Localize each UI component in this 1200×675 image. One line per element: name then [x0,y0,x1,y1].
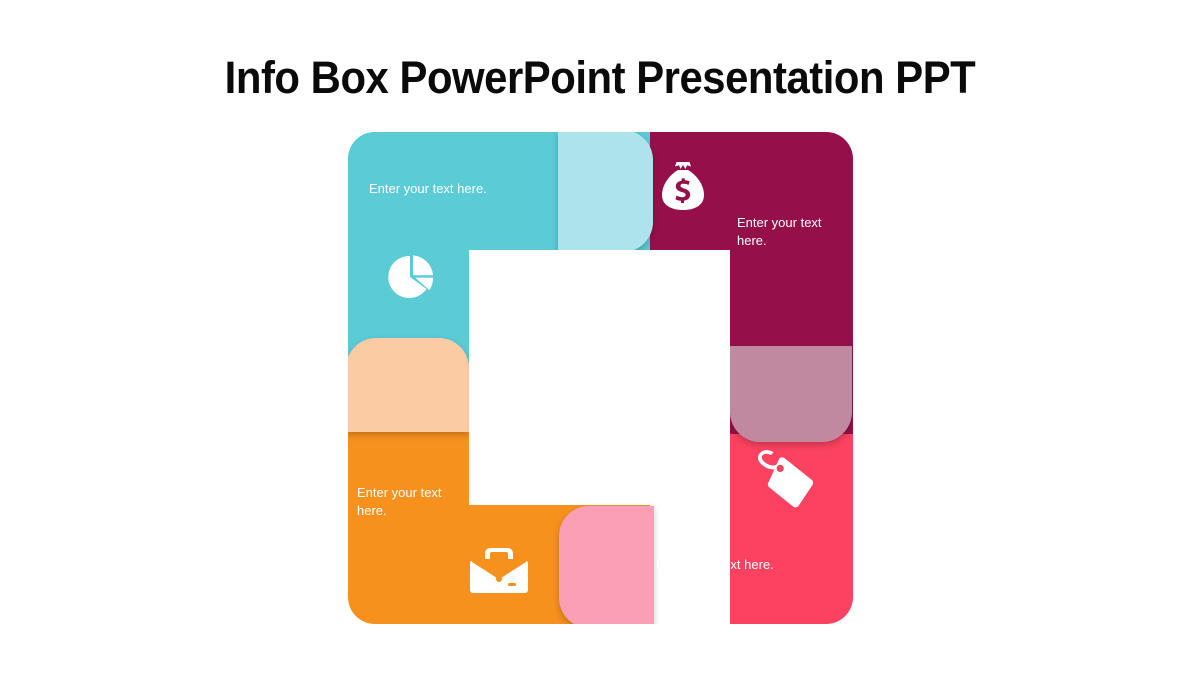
center-content-square[interactable] [469,250,730,505]
info-box-infographic: Enter your text here. Enter your text he… [348,132,853,624]
page-title: Info Box PowerPoint Presentation PPT [42,52,1158,104]
briefcase-icon [470,545,528,600]
money-bag-icon [659,160,707,217]
pie-chart-icon [386,252,436,307]
accent-tab-bottom-left [348,338,469,432]
quadrant-bottom-left-label: Enter your text here. [357,484,457,520]
quadrant-top-right-label: Enter your text here. [737,214,832,250]
infographic-clip: Enter your text here. Enter your text he… [348,132,853,624]
quadrant-top-left-label: Enter your text here. [369,180,569,198]
quadrant-bottom-right-label: Enter your text here. [656,556,853,574]
accent-tab-bottom-right [559,506,654,624]
price-tag-icon [753,444,819,519]
accent-tab-top-left [558,132,653,252]
accent-tab-top-right [730,346,852,442]
